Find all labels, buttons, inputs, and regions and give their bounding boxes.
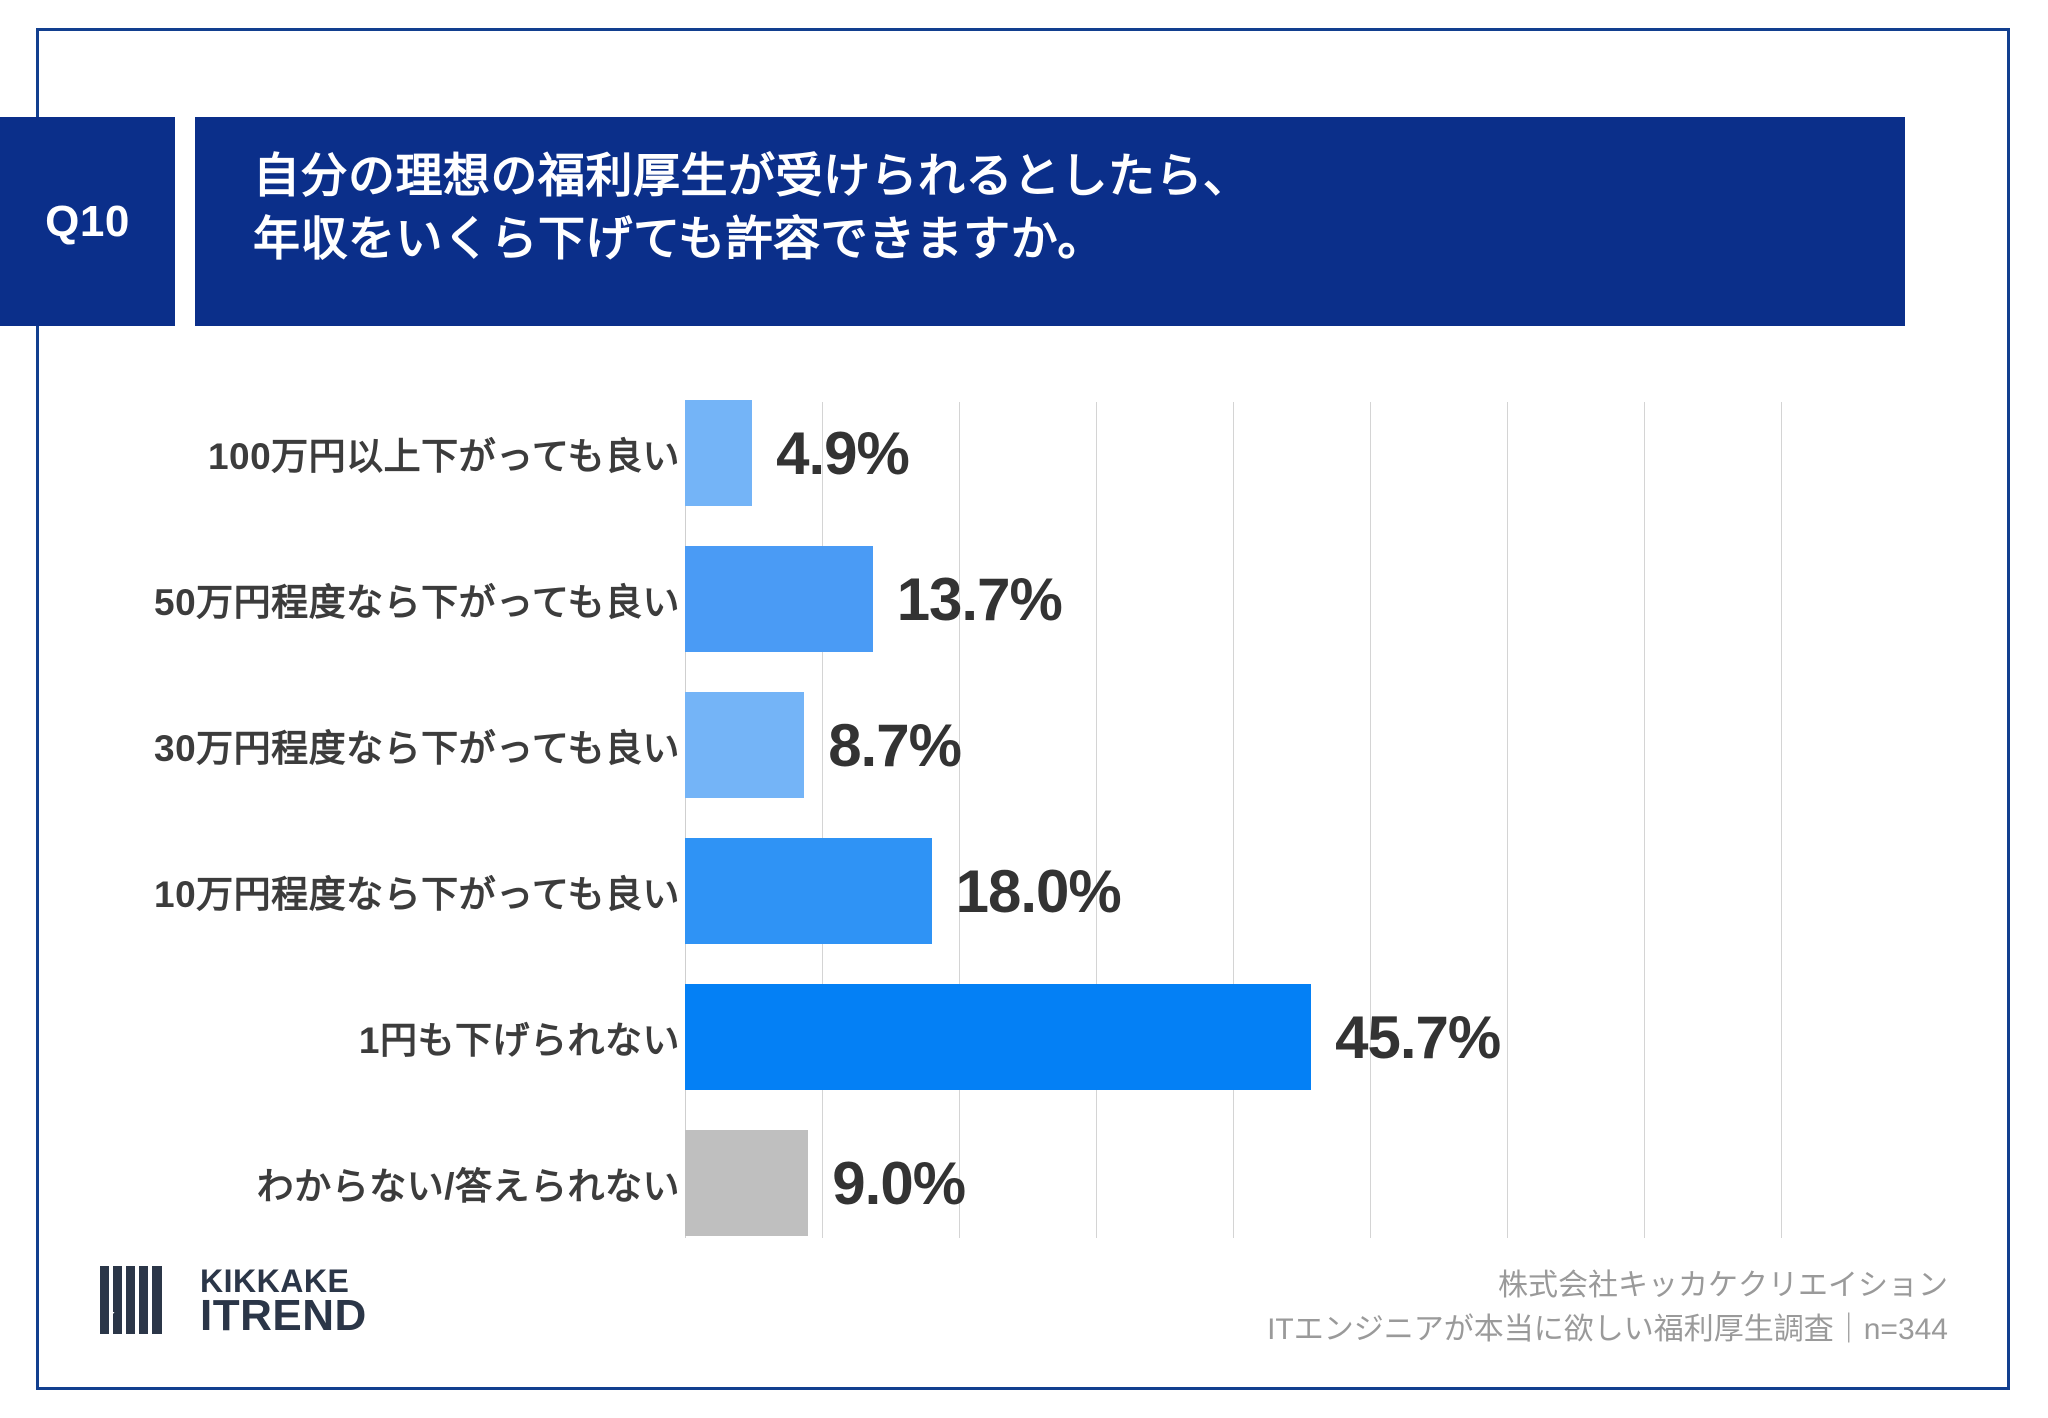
bar-value-label: 4.9% <box>776 419 909 488</box>
bar-and-value: 18.0% <box>685 818 1121 964</box>
logo-line-2: ITREND <box>200 1296 367 1336</box>
bar-chart-logo-icon <box>100 1262 186 1341</box>
bar-value-label: 13.7% <box>897 565 1062 634</box>
question-number-label: Q10 <box>45 197 130 247</box>
bar-row: 10万円程度なら下がっても良い18.0% <box>70 818 1950 964</box>
source-note-line-1: 株式会社キッカケクリエイション <box>1267 1264 1948 1308</box>
bar-and-value: 9.0% <box>685 1110 965 1256</box>
bar-row: わからない/答えられない9.0% <box>70 1110 1950 1256</box>
bar-and-value: 8.7% <box>685 672 961 818</box>
question-title-line-2: 年収をいくら下げても許容できますか。 <box>253 208 1905 271</box>
category-label: わからない/答えられない <box>257 1110 680 1256</box>
bar <box>685 692 804 798</box>
bar <box>685 984 1311 1090</box>
bar-and-value: 13.7% <box>685 526 1062 672</box>
bar-value-label: 8.7% <box>828 711 961 780</box>
question-title-line-1: 自分の理想の福利厚生が受けられるとしたら、 <box>253 145 1905 208</box>
kikkake-itrend-logo: KIKKAKE ITREND <box>100 1262 367 1341</box>
bar-and-value: 45.7% <box>685 964 1500 1110</box>
bar-row: 100万円以上下がっても良い4.9% <box>70 380 1950 526</box>
bar-row: 30万円程度なら下がっても良い8.7% <box>70 672 1950 818</box>
source-note: 株式会社キッカケクリエイション ITエンジニアが本当に欲しい福利厚生調査｜n=3… <box>1267 1264 1948 1351</box>
bar <box>685 1130 808 1236</box>
bar-value-label: 9.0% <box>832 1149 965 1218</box>
question-title-banner: 自分の理想の福利厚生が受けられるとしたら、 年収をいくら下げても許容できますか。 <box>195 117 1905 326</box>
bar-chart: 100万円以上下がっても良い4.9%50万円程度なら下がっても良い13.7%30… <box>70 380 1950 1260</box>
logo-wordmark: KIKKAKE ITREND <box>200 1267 367 1337</box>
bar-value-label: 18.0% <box>956 857 1121 926</box>
bar <box>685 838 932 944</box>
question-number-badge: Q10 <box>0 117 175 326</box>
bar <box>685 400 752 506</box>
category-label: 50万円程度なら下がっても良い <box>154 526 680 672</box>
category-label: 1円も下げられない <box>359 964 680 1110</box>
bar-and-value: 4.9% <box>685 380 909 526</box>
category-label: 100万円以上下がっても良い <box>208 380 680 526</box>
category-label: 10万円程度なら下がっても良い <box>154 818 680 964</box>
bar-row: 1円も下げられない45.7% <box>70 964 1950 1110</box>
bar-value-label: 45.7% <box>1335 1003 1500 1072</box>
bar <box>685 546 873 652</box>
source-note-line-2: ITエンジニアが本当に欲しい福利厚生調査｜n=344 <box>1267 1308 1948 1352</box>
category-label: 30万円程度なら下がっても良い <box>154 672 680 818</box>
bar-row: 50万円程度なら下がっても良い13.7% <box>70 526 1950 672</box>
plot-area: 100万円以上下がっても良い4.9%50万円程度なら下がっても良い13.7%30… <box>70 380 1950 1260</box>
